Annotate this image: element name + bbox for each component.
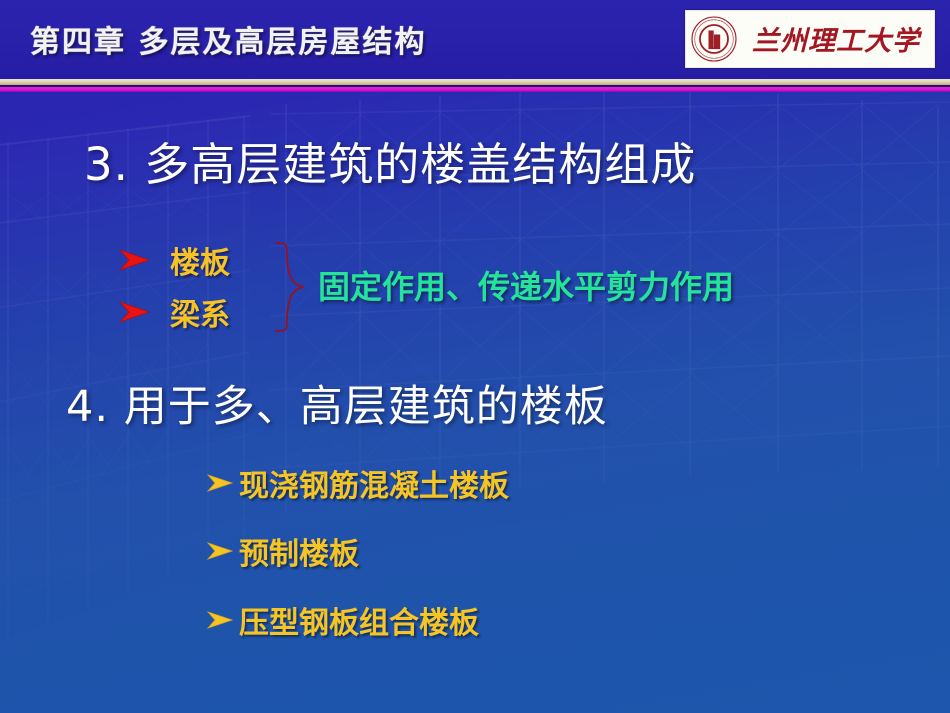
list-item-label: 楼板 <box>170 238 230 282</box>
gold-arrow-bullet-icon <box>206 472 234 494</box>
list-item-label: 现浇钢筋混凝土楼板 <box>239 461 509 505</box>
gold-arrow-bullet-icon <box>206 609 234 631</box>
floor-system-annotation: 固定作用、传递水平剪力作用 <box>318 262 734 308</box>
list-item-label: 预制楼板 <box>239 529 359 573</box>
list-item: 压型钢板组合楼板 <box>206 599 479 641</box>
header-rule-magenta <box>0 87 950 92</box>
slab-type-list: 现浇钢筋混凝土楼板 预制楼板 压型钢板组合楼板 <box>206 462 906 662</box>
university-name-calligraphy: 兰州理工大学 <box>738 15 934 63</box>
list-item-label: 压型钢板组合楼板 <box>239 598 479 642</box>
university-logo: ··· 兰州理工大学 <box>685 10 935 68</box>
university-name-text: 兰州理工大学 <box>752 26 923 57</box>
list-item-label: 梁系 <box>170 290 230 334</box>
list-item: 楼板 <box>118 238 230 282</box>
heading-section-3: 3. 多高层建筑的楼盖结构组成 <box>84 128 696 193</box>
slide: 第四章 多层及高层房屋结构 ··· <box>0 0 950 713</box>
list-item: 预制楼板 <box>206 530 359 572</box>
red-arrow-bullet-icon <box>118 299 152 325</box>
right-curly-brace-icon <box>270 240 318 336</box>
gold-arrow-bullet-icon <box>206 540 234 562</box>
red-arrow-bullet-icon <box>118 247 152 273</box>
heading-section-4: 4. 用于多、高层建筑的楼板 <box>66 372 608 434</box>
circular-university-seal-icon: ··· <box>690 15 738 63</box>
slide-header: 第四章 多层及高层房屋结构 ··· <box>0 0 950 79</box>
chapter-title: 第四章 多层及高层房屋结构 <box>30 17 426 61</box>
list-item: 现浇钢筋混凝土楼板 <box>206 462 509 504</box>
list-item: 梁系 <box>118 290 230 334</box>
floor-system-group: 楼板 梁系 固定作用、传递水平剪力作用 <box>118 238 818 343</box>
